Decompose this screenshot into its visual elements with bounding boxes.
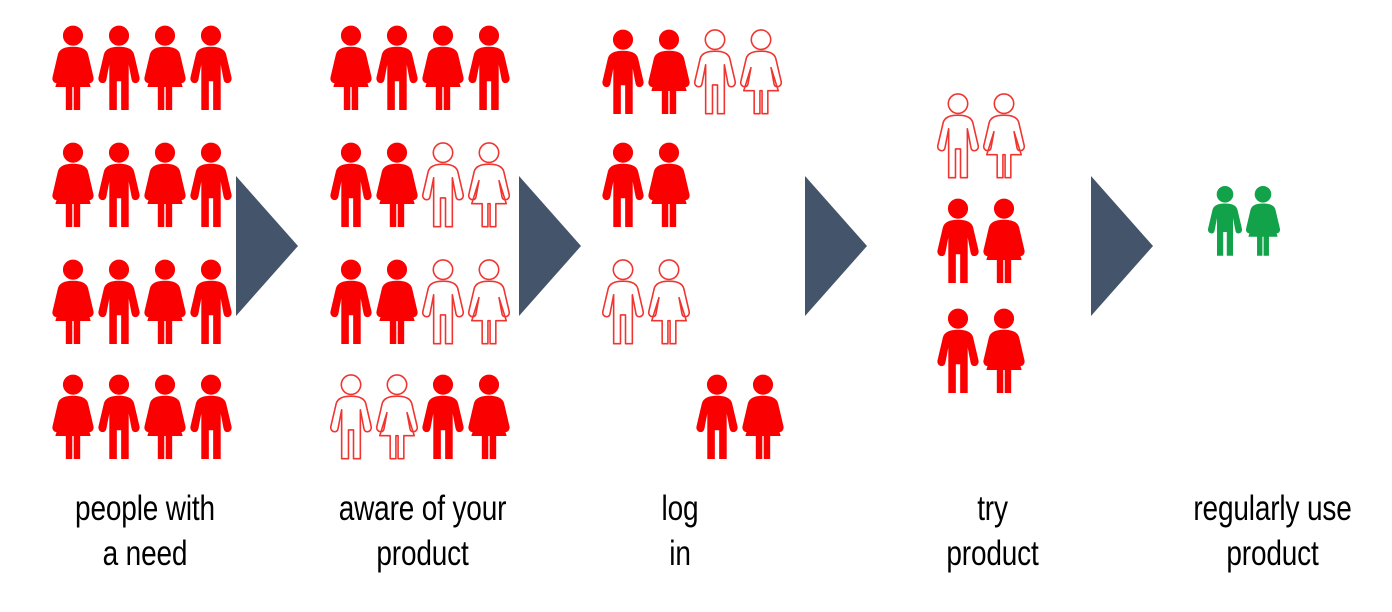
female-person-icon-filled [981, 295, 1027, 407]
stage-label-line-1: try [923, 487, 1063, 532]
female-person-icon-filled [328, 12, 374, 124]
pictogram-group-people-with-a-need [50, 12, 240, 482]
pictogram-row [694, 361, 786, 473]
male-person-icon-outline [935, 80, 981, 192]
male-person-icon-filled [96, 246, 142, 358]
pictogram-group-try-product [935, 12, 1045, 482]
female-person-icon-filled [142, 12, 188, 124]
pictogram-group-log-in [600, 12, 800, 482]
male-person-icon-outline [328, 361, 374, 473]
pictogram-row [50, 361, 234, 473]
male-person-icon-filled [188, 129, 234, 241]
funnel-stage-log-in [600, 12, 800, 482]
female-person-icon-filled [50, 361, 96, 473]
pictogram-row [328, 361, 512, 473]
male-person-icon-outline [692, 16, 738, 128]
stage-label-aware-of-your-product: aware of your product [321, 487, 525, 577]
pictogram-row [600, 16, 784, 128]
female-person-icon-outline [646, 246, 692, 358]
stage-label-line-2: product [321, 532, 525, 577]
female-person-icon-outline [981, 80, 1027, 192]
pictogram-row [600, 129, 692, 241]
stage-label-line-2: product [923, 532, 1063, 577]
female-person-icon-filled [466, 361, 512, 473]
female-person-icon-filled [646, 16, 692, 128]
female-person-icon-filled [142, 361, 188, 473]
female-person-icon-filled [50, 12, 96, 124]
male-person-icon-filled [374, 12, 420, 124]
pictogram-row [935, 295, 1027, 407]
stage-label-line-1: people with [45, 487, 245, 532]
male-person-icon-green [1206, 175, 1244, 267]
pictogram-row [600, 246, 692, 358]
male-person-icon-filled [935, 295, 981, 407]
stage-label-people-with-a-need: people with a need [45, 487, 245, 577]
female-person-icon-filled [420, 12, 466, 124]
male-person-icon-filled [188, 361, 234, 473]
female-person-icon-green [1244, 175, 1282, 267]
pictogram-group-regularly-use-product [1206, 12, 1316, 482]
male-person-icon-outline [600, 246, 646, 358]
pictogram-row [328, 12, 512, 124]
female-person-icon-outline [374, 361, 420, 473]
female-person-icon-filled [50, 129, 96, 241]
pictogram-row [328, 129, 512, 241]
funnel-arrow-2 [519, 176, 581, 316]
stage-label-line-2: product [1179, 532, 1367, 577]
stage-label-try-product: try product [923, 487, 1063, 577]
funnel-arrow-1 [236, 176, 298, 316]
stage-label-line-2: a need [45, 532, 245, 577]
female-person-icon-outline [466, 246, 512, 358]
pictogram-row [935, 80, 1027, 192]
pictogram-group-aware-of-your-product [328, 12, 518, 482]
pictogram-row [50, 129, 234, 241]
stage-label-line-1: log [612, 487, 748, 532]
pictogram-row [50, 246, 234, 358]
male-person-icon-filled [420, 361, 466, 473]
male-person-icon-filled [188, 12, 234, 124]
male-person-icon-filled [600, 129, 646, 241]
female-person-icon-filled [374, 246, 420, 358]
stage-label-log-in: log in [612, 487, 748, 577]
female-person-icon-outline [738, 16, 784, 128]
funnel-stage-regularly-use-product [1206, 12, 1316, 482]
female-person-icon-filled [646, 129, 692, 241]
stage-label-line-1: regularly use [1179, 487, 1367, 532]
male-person-icon-outline [420, 246, 466, 358]
male-person-icon-filled [694, 361, 740, 473]
male-person-icon-outline [420, 129, 466, 241]
pictogram-row [1206, 175, 1282, 267]
female-person-icon-filled [142, 246, 188, 358]
pictogram-row [328, 246, 512, 358]
stage-label-line-1: aware of your [321, 487, 525, 532]
funnel-stage-try-product [935, 12, 1045, 482]
funnel-stage-people-with-a-need [50, 12, 240, 482]
female-person-icon-filled [981, 185, 1027, 297]
male-person-icon-filled [188, 246, 234, 358]
male-person-icon-filled [328, 129, 374, 241]
funnel-stage-aware-of-your-product [328, 12, 518, 482]
female-person-icon-filled [740, 361, 786, 473]
funnel-diagram: people with a need [0, 0, 1392, 612]
male-person-icon-filled [466, 12, 512, 124]
pictogram-row [935, 185, 1027, 297]
female-person-icon-filled [142, 129, 188, 241]
pictogram-row [50, 12, 234, 124]
male-person-icon-filled [96, 12, 142, 124]
stage-label-line-2: in [612, 532, 748, 577]
stage-label-regularly-use-product: regularly use product [1179, 487, 1367, 577]
female-person-icon-filled [374, 129, 420, 241]
funnel-arrow-3 [805, 176, 867, 316]
female-person-icon-outline [466, 129, 512, 241]
funnel-arrow-4 [1091, 176, 1153, 316]
male-person-icon-filled [328, 246, 374, 358]
male-person-icon-filled [600, 16, 646, 128]
female-person-icon-filled [50, 246, 96, 358]
male-person-icon-filled [935, 185, 981, 297]
male-person-icon-filled [96, 361, 142, 473]
male-person-icon-filled [96, 129, 142, 241]
